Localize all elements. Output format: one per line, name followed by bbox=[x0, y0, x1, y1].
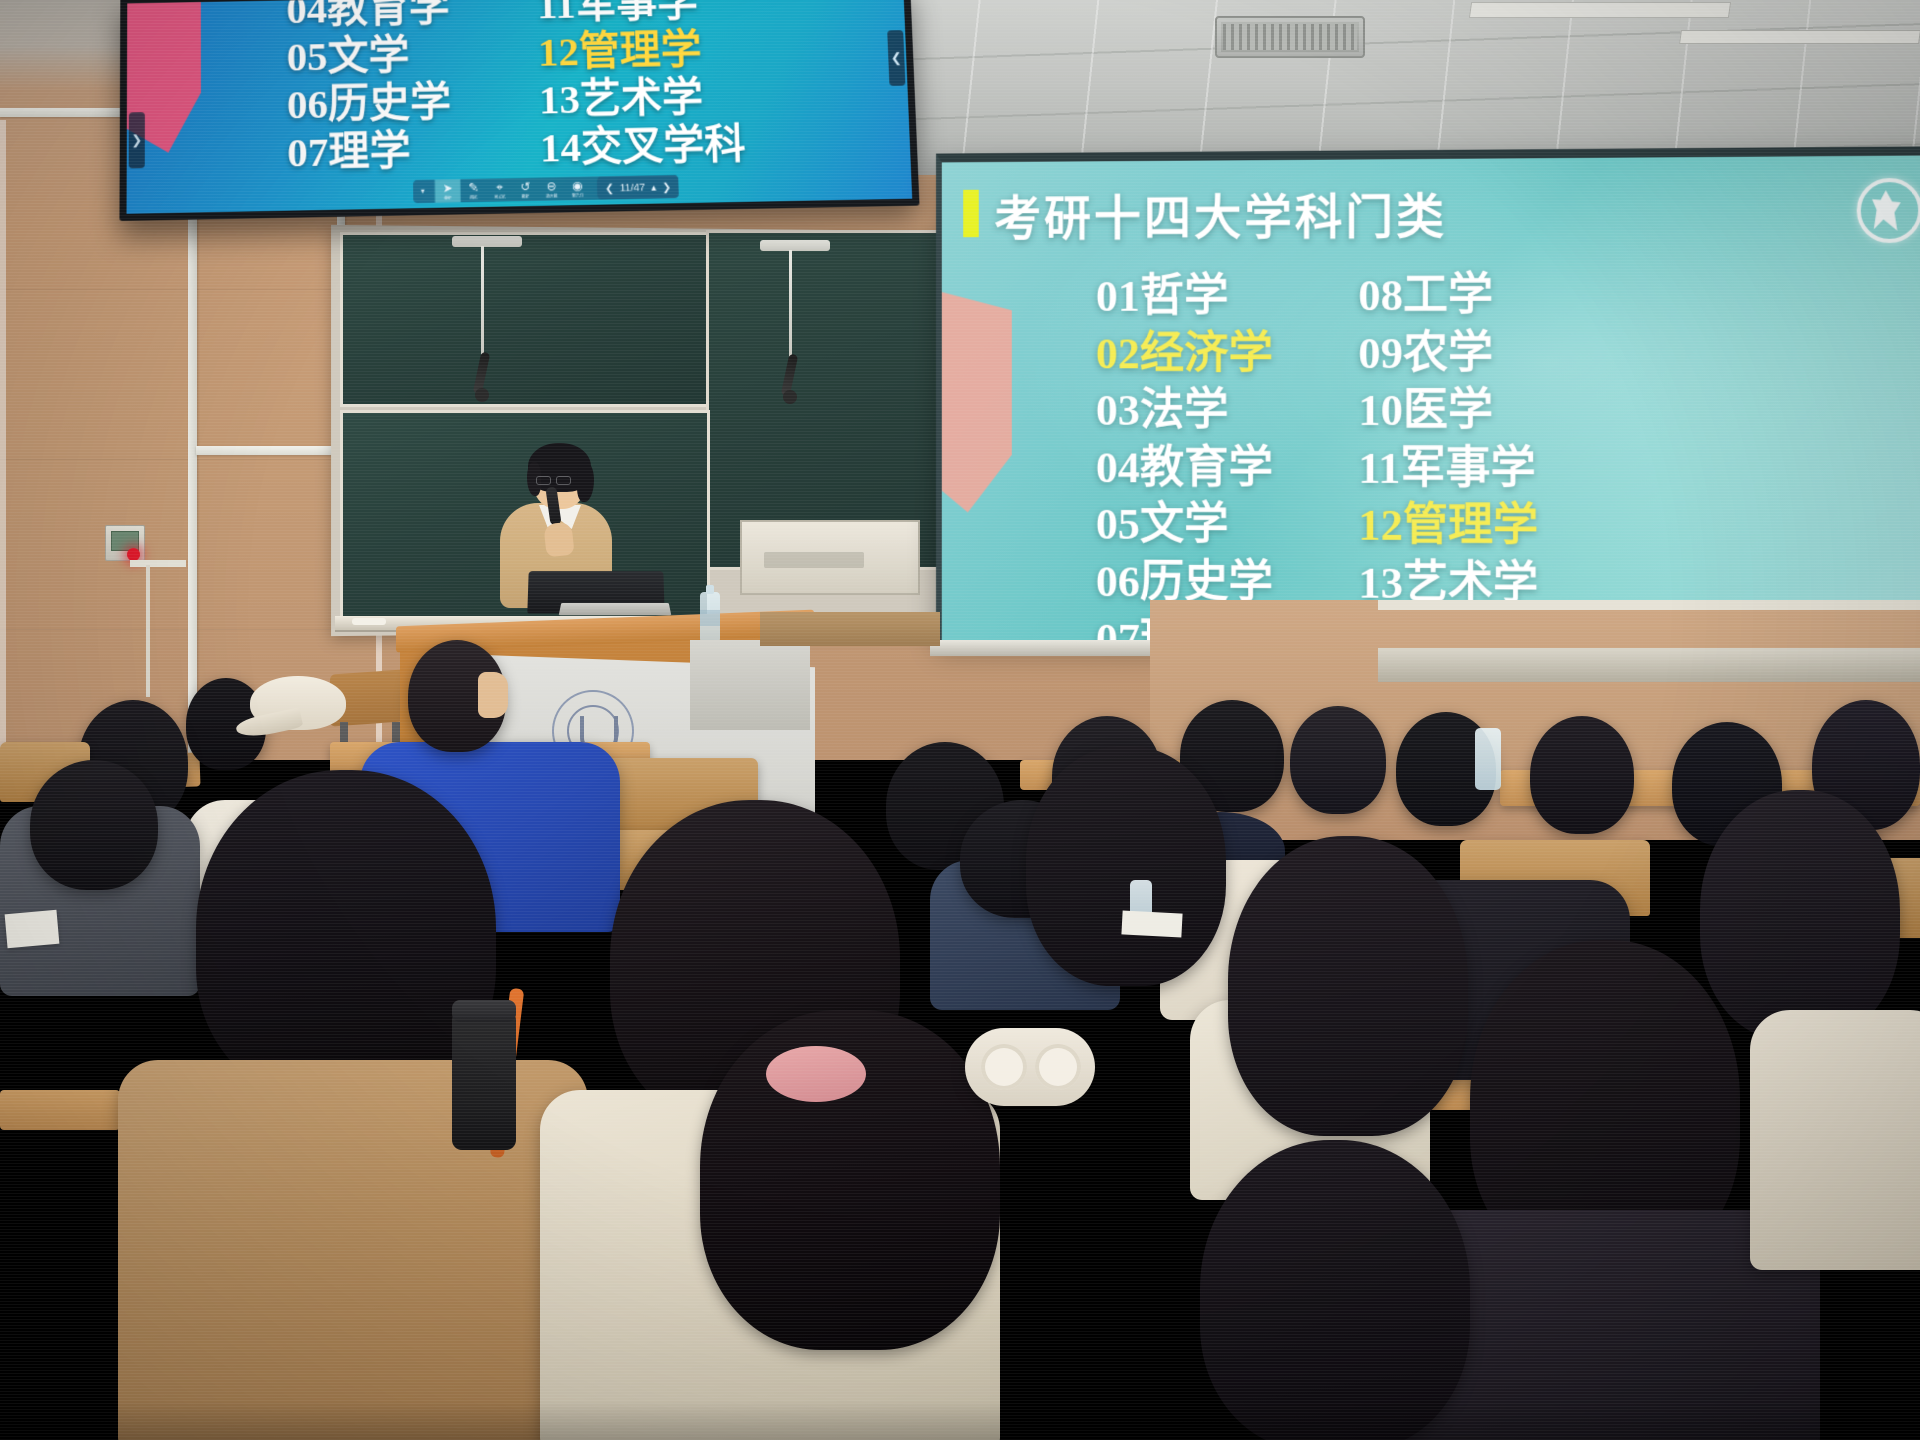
monitor-item-05: 05文学 bbox=[287, 31, 451, 82]
discipline-item-08: 08工学 bbox=[1358, 266, 1583, 324]
ceiling-monitor: 04教育学 05文学 06历史学 07理学 11军事学 12管理学 13艺术学 … bbox=[119, 0, 919, 221]
speaker-glasses-right-lens bbox=[556, 476, 571, 485]
blackboard-panel-right bbox=[706, 230, 948, 570]
blackboard-panel-left-top bbox=[340, 232, 710, 407]
floor-strip bbox=[760, 612, 940, 646]
monitor-edge-button-left[interactable]: ❯ bbox=[129, 112, 145, 168]
right-wall-ledge bbox=[1378, 648, 1920, 682]
lectern-keyboard-tray bbox=[559, 603, 672, 615]
prev-slide-icon[interactable]: ❮ bbox=[605, 182, 614, 194]
monitor-item-06: 06历史学 bbox=[287, 78, 452, 129]
lectern-side-block bbox=[690, 640, 810, 730]
audience-head-foreground bbox=[196, 770, 496, 1100]
slide-title: 考研十四大学科门类 bbox=[994, 177, 1447, 249]
discipline-item-02: 02经济学 bbox=[1096, 325, 1273, 382]
thermos-flask bbox=[452, 1010, 516, 1150]
paper-sheet bbox=[1121, 910, 1182, 937]
right-wall-trim bbox=[1378, 600, 1920, 610]
discipline-item-12: 12管理学 bbox=[1358, 497, 1583, 556]
monitor-edge-button-right[interactable]: ❮ bbox=[887, 30, 905, 86]
slide-list-caret-icon[interactable]: ▴ bbox=[651, 181, 657, 193]
discipline-columns: 01哲学 02经济学 03法学 04教育学 05文学 06历史学 07理学 08… bbox=[1096, 265, 1910, 649]
discipline-item-03: 03法学 bbox=[1096, 382, 1273, 439]
over-ear-headphones bbox=[965, 1028, 1095, 1106]
toolbar-collapse-caret[interactable]: ▾ bbox=[413, 179, 432, 203]
monitor-item-14: 14交叉学科 bbox=[539, 121, 746, 173]
mic-wire-right bbox=[789, 250, 792, 358]
water-bottle-label bbox=[700, 610, 720, 626]
chalk-piece bbox=[352, 618, 386, 625]
audience-head bbox=[1290, 706, 1386, 814]
discipline-item-01: 01哲学 bbox=[1096, 268, 1273, 326]
monitor-presenter-toolbar[interactable]: ▾ ➤ 指针 ✎ 画笔 ⌖ 荧光笔 bbox=[413, 175, 679, 203]
speaker-glasses-left-lens bbox=[536, 476, 551, 485]
slide-accent-bar bbox=[963, 190, 979, 237]
audience-torso-foreground-tan bbox=[118, 1060, 588, 1440]
water-bottle-desk bbox=[1475, 728, 1501, 790]
monitor-item-11: 11军事学 bbox=[537, 0, 742, 29]
alarm-bracket bbox=[130, 560, 186, 567]
discipline-item-11: 11军事学 bbox=[1358, 440, 1583, 498]
slide-page-indicator: 11/47 bbox=[620, 181, 645, 194]
monitor-item-12: 12管理学 bbox=[538, 25, 744, 76]
mic-wire-left bbox=[481, 246, 484, 356]
monitor-item-13: 13艺术学 bbox=[539, 73, 745, 125]
slide-navigation[interactable]: ❮ 11/47 ▴ ❯ bbox=[597, 175, 679, 200]
alarm-conduit bbox=[146, 565, 150, 697]
discipline-column-right: 08工学 09农学 10医学 11军事学 12管理学 13艺术学 14交叉学科 bbox=[1358, 266, 1583, 648]
audience-face-profile bbox=[478, 672, 508, 718]
monitor-column-right: 11军事学 12管理学 13艺术学 14交叉学科 bbox=[537, 0, 746, 166]
audience-head-foreground bbox=[1200, 1140, 1470, 1440]
projection-screen: 考研十四大学科门类 01哲学 02经济学 03法学 04教育学 05文学 06历… bbox=[936, 146, 1920, 648]
discipline-item-05: 05文学 bbox=[1096, 496, 1273, 554]
monitor-column-left: 04教育学 05文学 06历史学 07理学 bbox=[286, 0, 452, 170]
pen-icon[interactable]: ✎ 画笔 bbox=[461, 178, 487, 202]
discipline-item-09: 09农学 bbox=[1358, 324, 1583, 382]
institution-logo-icon bbox=[1857, 178, 1920, 243]
discipline-item-04: 04教育学 bbox=[1096, 439, 1273, 497]
audience-head bbox=[30, 760, 158, 890]
audience-head bbox=[1530, 716, 1634, 834]
cursor-icon[interactable]: ➤ 指针 bbox=[435, 179, 461, 203]
desk-surface-wood bbox=[0, 1090, 120, 1130]
ceiling-light-2 bbox=[1679, 30, 1920, 44]
monitor-slide-surface: 04教育学 05文学 06历史学 07理学 11军事学 12管理学 13艺术学 … bbox=[127, 0, 913, 214]
undo-icon[interactable]: ↺ 撤销 bbox=[512, 177, 538, 201]
ceiling-vent bbox=[1215, 16, 1365, 58]
audience-head-foreground bbox=[1228, 836, 1468, 1136]
hair-scrunchie bbox=[766, 1046, 866, 1102]
discipline-column-left: 01哲学 02经济学 03法学 04教育学 05文学 06历史学 07理学 bbox=[1096, 268, 1273, 649]
speaker-hand bbox=[543, 522, 574, 558]
monitor-item-07: 07理学 bbox=[287, 126, 452, 177]
ceiling-light-1 bbox=[1469, 2, 1731, 18]
mic-cap-right bbox=[783, 390, 797, 404]
spotlight-icon[interactable]: ◉ 聚光灯 bbox=[564, 176, 590, 200]
audience-head-foreground bbox=[1700, 790, 1900, 1040]
audience-torso-right-edge bbox=[1750, 1010, 1920, 1270]
paper-sheet bbox=[5, 910, 60, 948]
next-slide-icon[interactable]: ❯ bbox=[662, 181, 671, 193]
mic-cap-left bbox=[475, 388, 489, 402]
monitor-item-04: 04教育学 bbox=[286, 0, 450, 34]
mic-mount-left bbox=[452, 236, 522, 247]
highlighter-icon[interactable]: ⌖ 荧光笔 bbox=[486, 178, 512, 202]
zoom-out-icon[interactable]: ⊖ 放大镜 bbox=[538, 177, 564, 201]
mic-mount-right bbox=[760, 240, 830, 251]
lecture-hall-photo: 04教育学 05文学 06历史学 07理学 11军事学 12管理学 13艺术学 … bbox=[0, 0, 1920, 1440]
whiteboard-insert bbox=[740, 520, 920, 595]
audience-head-foreground bbox=[1026, 746, 1226, 986]
thermos-lid bbox=[452, 1000, 516, 1022]
monitor-discipline-columns: 04教育学 05文学 06历史学 07理学 11军事学 12管理学 13艺术学 … bbox=[286, 0, 870, 170]
discipline-item-10: 10医学 bbox=[1358, 382, 1583, 440]
